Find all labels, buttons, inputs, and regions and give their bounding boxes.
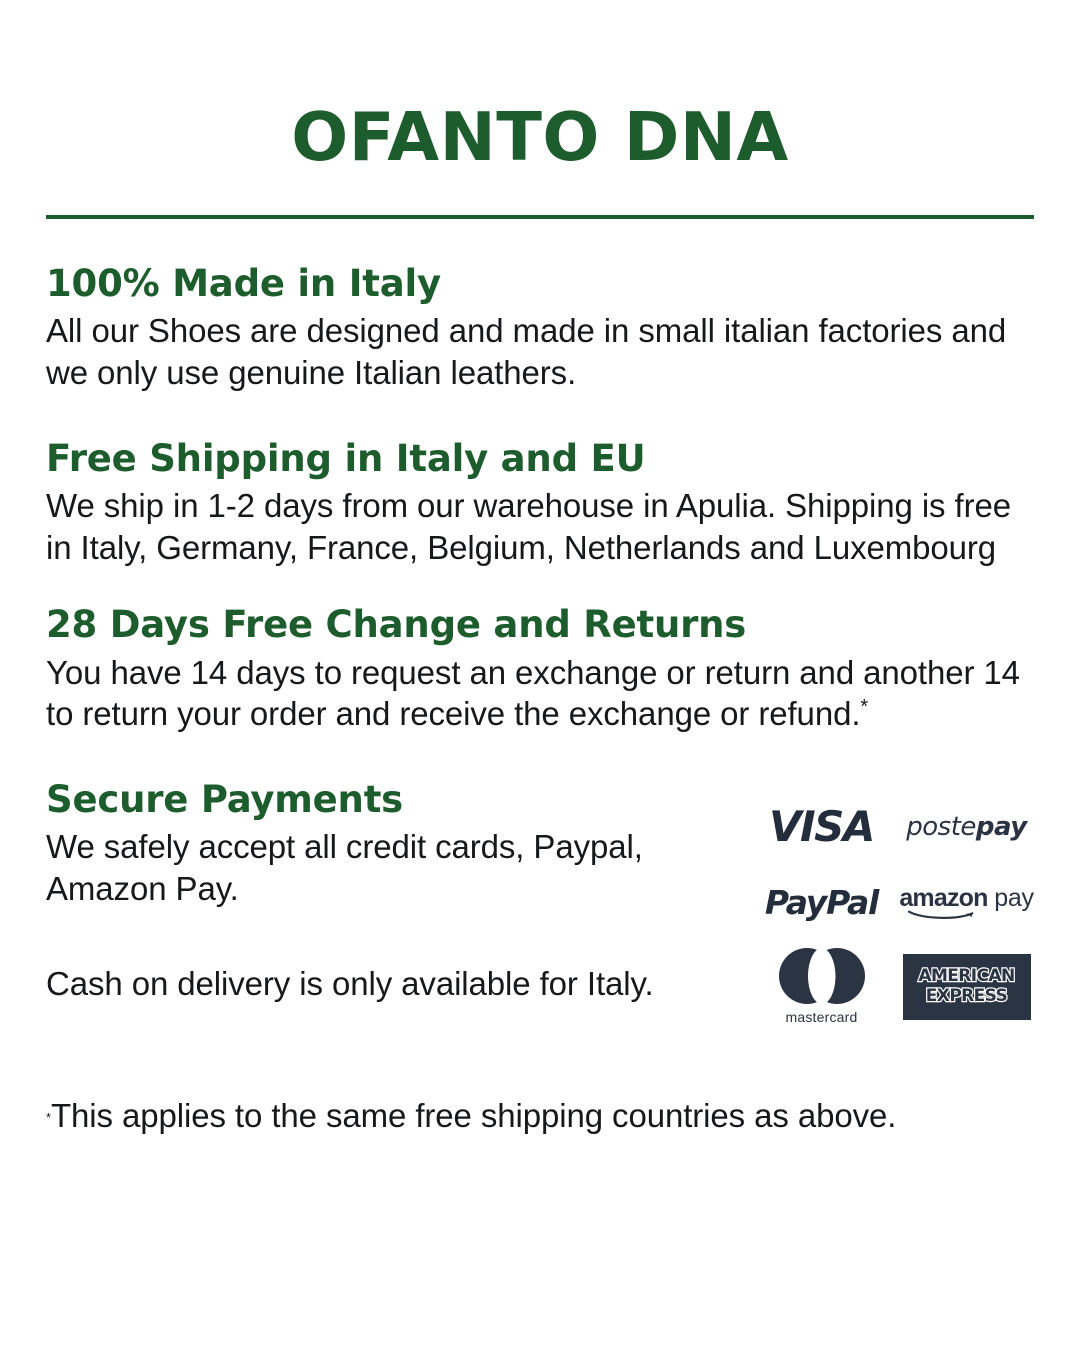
mastercard-circles-icon xyxy=(779,948,865,1004)
section-made-in-italy: 100% Made in Italy All our Shoes are des… xyxy=(46,263,1034,394)
paypal-icon: PayPal xyxy=(765,886,878,919)
section-free-shipping: Free Shipping in Italy and EU We ship in… xyxy=(46,438,1034,569)
postepay-label-light: poste xyxy=(906,812,976,842)
section-heading-secure-payments: Secure Payments xyxy=(46,779,686,820)
shipping-footnote: *This applies to the same free shipping … xyxy=(46,1033,1034,1137)
section-heading-made-in-italy: 100% Made in Italy xyxy=(46,263,1034,304)
ofanto-dna-info-card: OFANTO DNA 100% Made in Italy All our Sh… xyxy=(0,0,1080,1350)
postepay-label-bold: pay xyxy=(976,812,1027,842)
section-body-returns: You have 14 days to request an exchange … xyxy=(46,652,1034,735)
footnote-text: This applies to the same free shipping c… xyxy=(51,1097,896,1134)
section-body-made-in-italy: All our Shoes are designed and made in s… xyxy=(46,310,1034,393)
page-title: OFANTO DNA xyxy=(46,0,1034,171)
visa-logo-cell: VISA xyxy=(754,789,889,865)
payment-logo-grid: VISA postepay PayPal amazon pay xyxy=(754,789,1034,1033)
section-returns: 28 Days Free Change and Returns You have… xyxy=(46,604,1034,735)
section-body-returns-text: You have 14 days to request an exchange … xyxy=(46,654,1020,733)
cash-on-delivery-note: Cash on delivery is only available for I… xyxy=(46,909,686,1005)
header-divider xyxy=(46,215,1034,219)
amazon-pay-label-bold: amazon xyxy=(899,884,987,912)
paypal-logo-cell: PayPal xyxy=(754,865,889,941)
amazon-pay-label-light: pay xyxy=(988,884,1034,912)
returns-footnote-marker: * xyxy=(860,696,868,718)
payments-text-block: Secure Payments We safely accept all cre… xyxy=(46,779,686,1005)
mastercard-icon: mastercard xyxy=(779,948,865,1025)
postepay-logo-cell: postepay xyxy=(899,789,1034,865)
section-heading-returns: 28 Days Free Change and Returns xyxy=(46,604,1034,645)
visa-icon: VISA xyxy=(769,806,874,848)
amazon-smile-arrow-icon xyxy=(901,910,987,920)
mastercard-logo-cell: mastercard xyxy=(754,941,889,1033)
postepay-icon: postepay xyxy=(906,814,1026,840)
amazon-pay-icon: amazon pay xyxy=(899,886,1033,920)
american-express-logo-cell: AMERICAN EXPRESS xyxy=(899,941,1034,1033)
amazon-pay-logo-cell: amazon pay xyxy=(899,865,1034,941)
mastercard-label: mastercard xyxy=(785,1009,857,1025)
section-body-free-shipping: We ship in 1-2 days from our warehouse i… xyxy=(46,485,1034,568)
section-secure-payments: Secure Payments We safely accept all cre… xyxy=(46,779,1034,1137)
american-express-icon: AMERICAN EXPRESS xyxy=(903,954,1031,1020)
section-heading-free-shipping: Free Shipping in Italy and EU xyxy=(46,438,1034,479)
section-body-secure-payments: We safely accept all credit cards, Paypa… xyxy=(46,826,686,909)
amex-line-2: EXPRESS xyxy=(926,988,1007,1005)
mastercard-overlap-lens xyxy=(808,948,836,1004)
payments-row: Secure Payments We safely accept all cre… xyxy=(46,779,1034,1033)
amex-line-1: AMERICAN xyxy=(918,968,1014,985)
